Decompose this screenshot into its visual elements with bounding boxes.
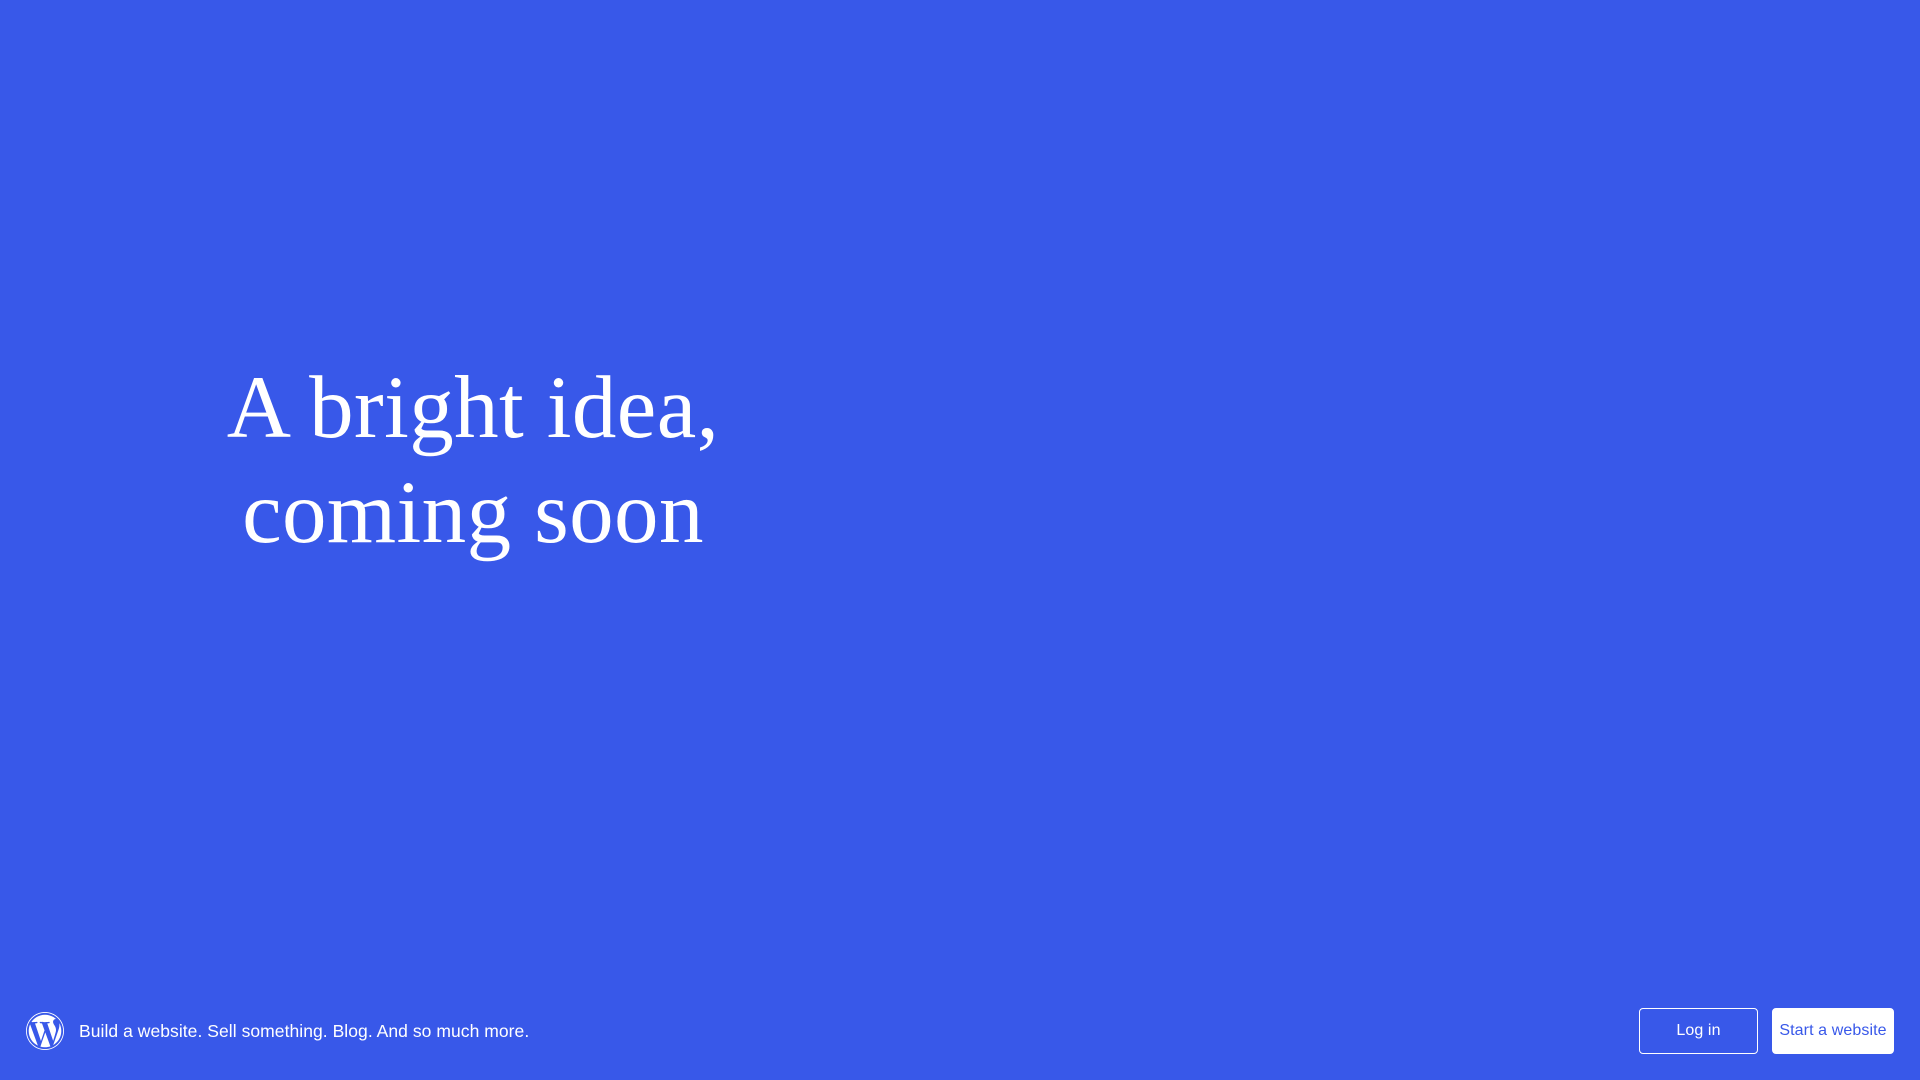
coming-soon-page: A bright idea, coming soon Build a websi… [0,0,1920,1080]
page-title: A bright idea, coming soon [227,356,720,566]
hero-content: A bright idea, coming soon [0,0,940,982]
start-a-website-button[interactable]: Start a website [1772,1008,1894,1054]
wordpress-logo-icon [26,1012,64,1050]
footer-actions: Log in Start a website [1639,1008,1894,1054]
footer-tagline: Build a website. Sell something. Blog. A… [79,1020,529,1043]
hero-section: A bright idea, coming soon [0,0,1920,982]
footer-branding: Build a website. Sell something. Blog. A… [26,1012,529,1050]
log-in-button[interactable]: Log in [1639,1008,1758,1054]
footer-bar: Build a website. Sell something. Blog. A… [0,982,1920,1080]
